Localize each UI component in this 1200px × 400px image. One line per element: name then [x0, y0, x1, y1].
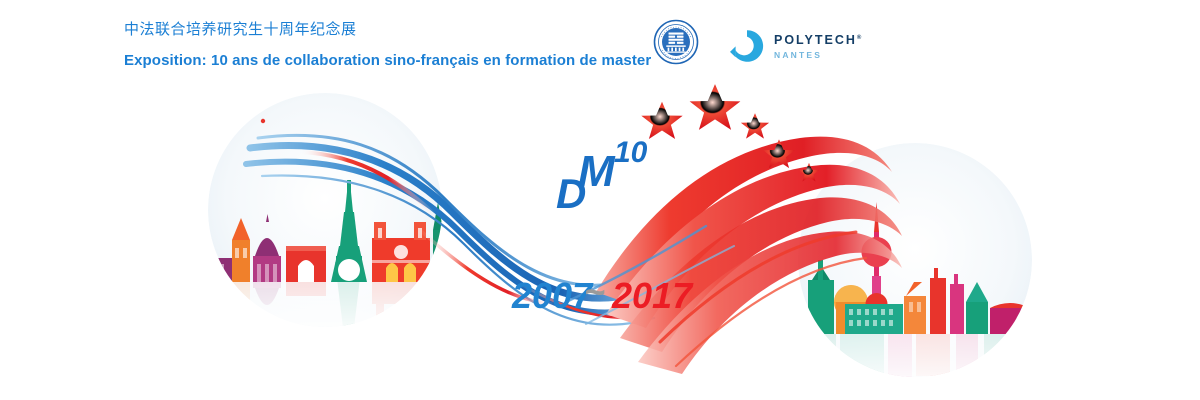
university-seal-icon [653, 19, 699, 65]
banner-artwork: D M 10 2007 ~ 2017 [0, 80, 1200, 400]
star-3 [741, 113, 769, 138]
polytech-wordmark: POLYTECH® NANTES [774, 32, 861, 60]
exhibition-banner: 中法联合培养研究生十周年纪念展 Exposition: 10 ans de co… [0, 0, 1200, 400]
page-title-fr: Exposition: 10 ans de collaboration sino… [124, 51, 651, 71]
polytech-nantes-logo: POLYTECH® NANTES [729, 26, 861, 66]
year-start: 2007 [511, 275, 594, 316]
star-2 [690, 84, 741, 130]
year-separator: ~ [584, 271, 605, 312]
polytech-ring-icon [729, 28, 765, 64]
banner-header: 中法联合培养研究生十周年纪念展 Exposition: 10 ans de co… [0, 0, 1200, 90]
polytech-name: POLYTECH® [774, 34, 861, 47]
header-titles: 中法联合培养研究生十周年纪念展 Exposition: 10 ans de co… [124, 20, 651, 71]
dm10-monogram: D M 10 [556, 136, 648, 217]
star-1 [641, 102, 682, 139]
polytech-city: NANTES [774, 51, 861, 60]
monogram-letter-m: M [578, 147, 616, 196]
registered-mark-icon: ® [857, 35, 861, 41]
years-range: 2007 ~ 2017 [511, 271, 694, 316]
monogram-superscript: 10 [614, 136, 648, 169]
paris-circle [200, 93, 544, 344]
page-title-cn: 中法联合培养研究生十周年纪念展 [124, 20, 651, 40]
year-end: 2017 [611, 275, 694, 316]
